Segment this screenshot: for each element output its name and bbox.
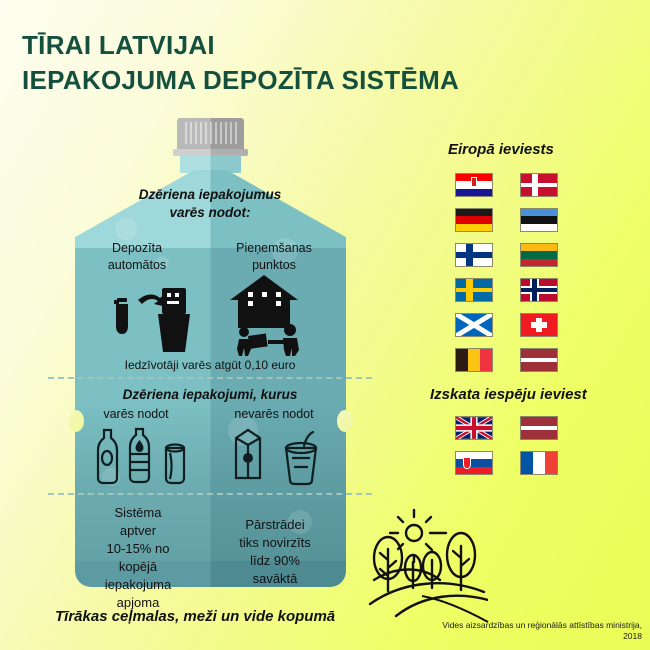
section2-heading: Dzēriena iepakojumi, kurus — [60, 386, 360, 404]
flag-finland — [455, 243, 493, 267]
not-accepted-containers-icons — [224, 422, 330, 491]
page-title: Tīrai Latvijai Iepakojuma depozīta sistē… — [22, 28, 542, 99]
collection-point-icon — [218, 270, 328, 361]
flag-belgium — [455, 348, 493, 372]
section1-right-label: Pieņemšanas punktos — [210, 240, 338, 273]
flag-slovakia — [455, 451, 493, 475]
flag-latvia — [520, 348, 558, 372]
flags-adopted-heading: Eiropā ieviests — [448, 141, 554, 158]
flag-croatia — [455, 173, 493, 197]
section2-right-label: nevarēs nodot — [208, 406, 340, 423]
recycling-stat: Pārstrādei tiks novirzīts līdz 90% savāk… — [210, 516, 340, 588]
reverse-vending-machine-icon — [108, 276, 200, 359]
credit-attribution: Vides aizsardzības un reģionālās attīstī… — [342, 620, 642, 643]
section2-left-label: varēs nodot — [76, 406, 196, 423]
flag-denmark — [520, 173, 558, 197]
flags-considering-heading: Izskata iespēju ieviest — [430, 386, 587, 403]
bubble-decor — [115, 218, 137, 240]
bottle-illustration: Dzēriena iepakojumus varēs nodot: Depozī… — [60, 118, 360, 598]
coverage-stat: Sistēma aptver 10-15% no kopējā iepakoju… — [76, 504, 200, 612]
flag-scotland — [455, 313, 493, 337]
footer-tagline: Tīrākas ceļmalas, meži un vide kopumā — [55, 608, 335, 625]
section1-heading: Dzēriena iepakojumus varēs nodot: — [60, 186, 360, 221]
credit-ministry: Vides aizsardzības un reģionālās attīstī… — [342, 620, 642, 631]
flag-switzerland — [520, 313, 558, 337]
credit-year: 2018 — [342, 631, 642, 642]
title-line-1: Tīrai Latvijai — [22, 28, 542, 63]
flag-latvia — [520, 416, 558, 440]
bottle-cap-ribs — [182, 122, 239, 144]
section1-left-label: Depozīta automātos — [78, 240, 196, 273]
flag-uk — [455, 416, 493, 440]
flag-sweden — [455, 278, 493, 302]
flag-estonia — [520, 208, 558, 232]
infographic-canvas: Tīrai Latvijai Iepakojuma depozīta sistē… — [0, 0, 650, 650]
flag-lithuania — [520, 243, 558, 267]
title-line-2: Iepakojuma depozīta sistēma — [22, 63, 542, 98]
accepted-containers-icons — [92, 424, 204, 491]
flag-france — [520, 451, 558, 475]
section-divider-1 — [48, 377, 372, 379]
flag-germany — [455, 208, 493, 232]
deposit-amount-note: Iedzīvotāji varēs atgūt 0,10 euro — [60, 358, 360, 372]
flag-norway — [520, 278, 558, 302]
section-divider-2 — [48, 493, 372, 495]
